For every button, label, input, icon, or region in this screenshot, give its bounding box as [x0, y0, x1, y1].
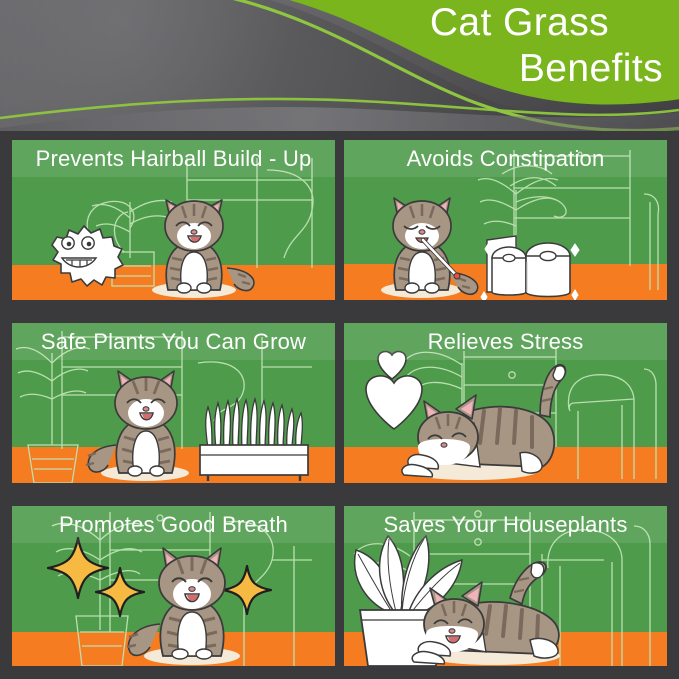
panel-title-saves-your-houseplants: Saves Your Houseplants [344, 506, 667, 543]
poster-header: Cat Grass Benefits [0, 0, 679, 131]
panel-saves-your-houseplants[interactable]: Saves Your Houseplants [344, 506, 667, 666]
panel-safe-plants-you-can-grow[interactable]: Safe Plants You Can Grow [12, 323, 335, 483]
infographic-poster: Cat Grass Benefits [0, 0, 679, 679]
panel-title-prevents-hairball-build-up: Prevents Hairball Build - Up [12, 140, 335, 177]
panel-avoids-constipation[interactable]: Avoids Constipation [344, 140, 667, 300]
panel-title-promotes-good-breath: Promotes Good Breath [12, 506, 335, 543]
panel-title-safe-plants-you-can-grow: Safe Plants You Can Grow [12, 323, 335, 360]
header-swoosh-graphic [0, 0, 679, 131]
panel-title-relieves-stress: Relieves Stress [344, 323, 667, 360]
panel-promotes-good-breath[interactable]: Promotes Good Breath [12, 506, 335, 666]
header-green-shape [246, 0, 679, 105]
benefits-grid: Prevents Hairball Build - Up [12, 140, 667, 666]
grass-planter [200, 399, 308, 481]
panel-relieves-stress[interactable]: Relieves Stress [344, 323, 667, 483]
panel-prevents-hairball-build-up[interactable]: Prevents Hairball Build - Up [12, 140, 335, 300]
panel-title-avoids-constipation: Avoids Constipation [344, 140, 667, 177]
